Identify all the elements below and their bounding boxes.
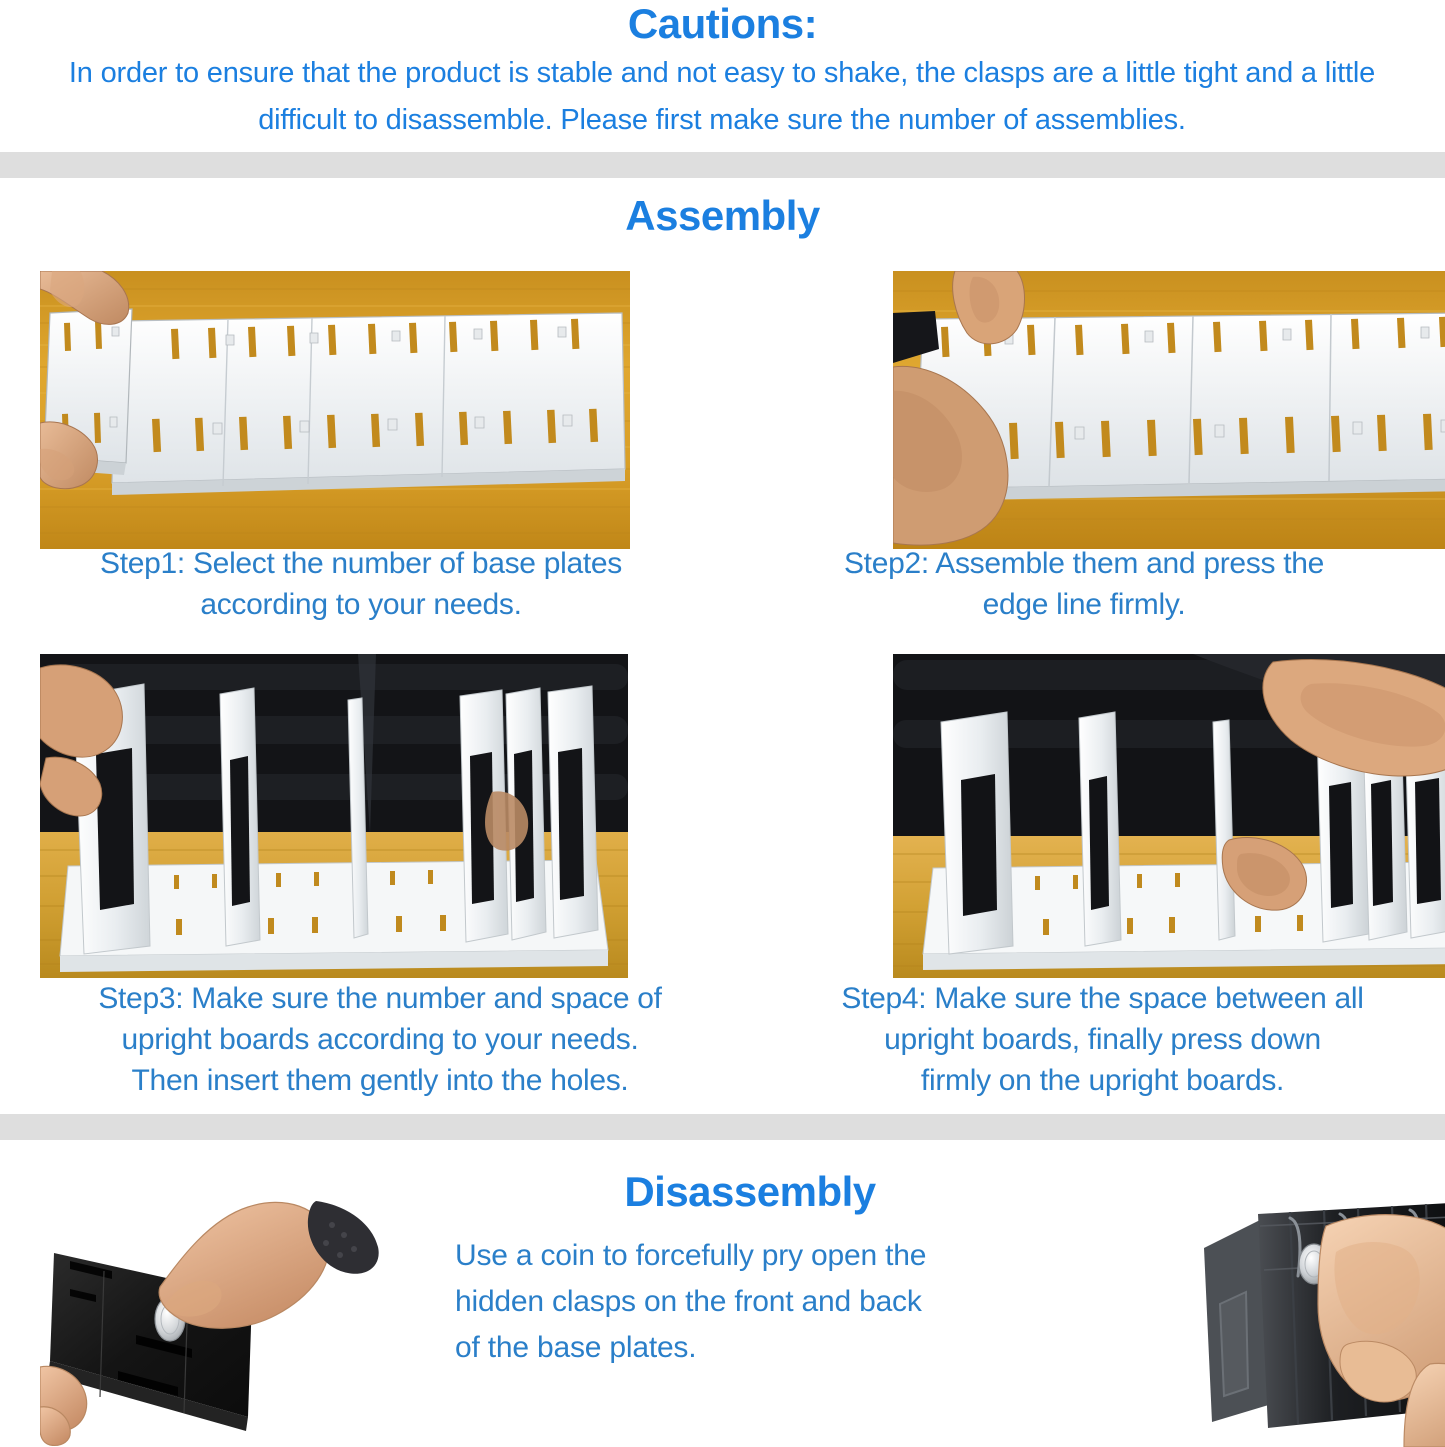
step4-photo (893, 654, 1445, 978)
cautions-title: Cautions: (0, 2, 1445, 46)
assembly-heading: Assembly (0, 193, 1445, 239)
section-divider-bottom (0, 1114, 1445, 1140)
step2-photo (893, 271, 1445, 549)
instruction-infographic: Cautions: In order to ensure that the pr… (0, 0, 1445, 1431)
disassembly-heading: Disassembly (430, 1168, 1070, 1216)
section-divider-top (0, 152, 1445, 178)
step3-caption: Step3: Make sure the number and space of… (0, 978, 760, 1101)
step4-caption: Step4: Make sure the space between all u… (760, 978, 1445, 1101)
cautions-body-text: In order to ensure that the product is s… (22, 50, 1422, 144)
step1-caption: Step1: Select the number of base plates … (0, 543, 722, 625)
step1-photo (40, 271, 630, 549)
step2-caption: Step2: Assemble them and press the edge … (723, 543, 1445, 625)
disassembly-right-photo (1168, 1196, 1445, 1447)
cautions-section: Cautions: In order to ensure that the pr… (0, 0, 1445, 150)
disassembly-left-photo (40, 1201, 418, 1447)
disassembly-body-text: Use a coin to forcefully pry open the hi… (455, 1233, 1055, 1371)
step3-photo (40, 654, 628, 978)
